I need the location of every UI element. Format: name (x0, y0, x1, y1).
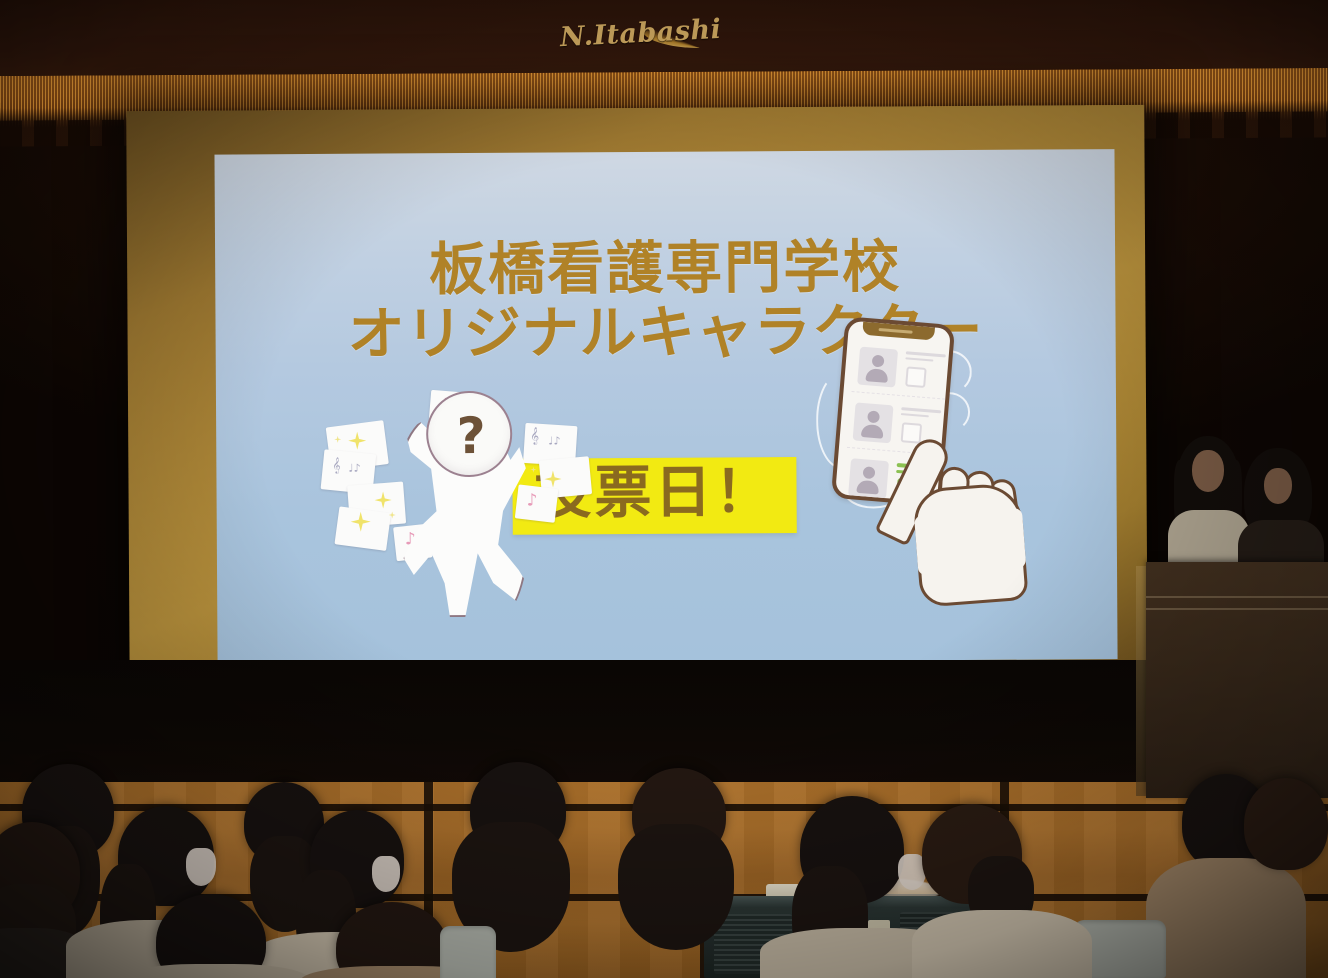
avatar (853, 402, 894, 443)
chair (440, 926, 496, 978)
candidate-row[interactable] (851, 341, 951, 397)
audience-head (1244, 778, 1328, 870)
avatar (857, 347, 898, 388)
face-mask (372, 856, 400, 892)
card (334, 506, 391, 551)
face-mask (186, 848, 216, 886)
candidate-name-lines (905, 351, 946, 365)
hand-tap-icon (890, 433, 1042, 613)
palm-overlay (914, 508, 1026, 576)
audience-shoulders (1146, 858, 1306, 978)
presenter-right (1242, 448, 1320, 568)
voting-app-illustration (814, 319, 1076, 631)
slide-title-line1: 板橋看護専門学校 (429, 234, 901, 303)
mascot-illustration: ♪ 𝄞 ♩♪ ♪ 𝄞 ♩♪ ♪ ? (326, 382, 597, 624)
audience-shoulders (912, 910, 1092, 978)
projection-screen: 板橋看護専門学校 オリジナルキャラクター 投票日！ (126, 105, 1148, 699)
avatar (848, 458, 889, 499)
presenter-left (1172, 436, 1244, 566)
audience-hair (618, 824, 734, 950)
audience (0, 760, 1328, 978)
sparkle-icon (530, 467, 536, 473)
slide-canvas: 板橋看護専門学校 オリジナルキャラクター 投票日！ (214, 149, 1117, 664)
mascot-head: ? (426, 391, 513, 478)
phone-notch (862, 322, 935, 341)
candidate-name-lines (901, 407, 942, 421)
vote-checkbox[interactable] (905, 366, 927, 388)
question-mark-icon: ? (428, 393, 515, 480)
auditorium-photo: N.Itabashi 板橋看護専門学校 オリジナルキャラクター 投票日！ (0, 0, 1328, 978)
